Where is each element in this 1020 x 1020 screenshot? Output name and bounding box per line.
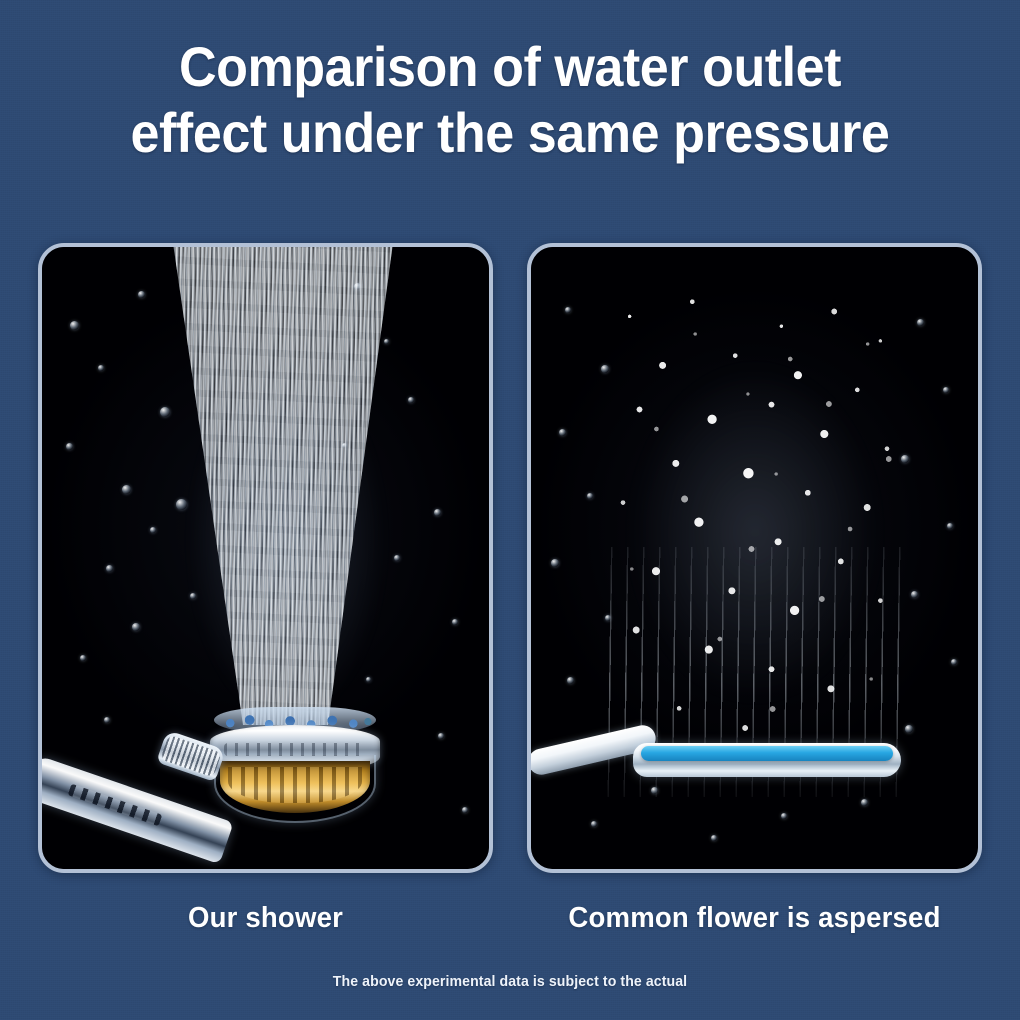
caption-common-flower: Common flower is aspersed (538, 902, 970, 935)
panel-common-flower (527, 243, 982, 873)
title-line-1: Comparison of water outlet (36, 34, 985, 100)
water-droplet (70, 321, 79, 330)
water-droplet (951, 659, 957, 665)
water-droplet (711, 835, 717, 841)
water-droplet (80, 655, 86, 661)
water-droplet (567, 677, 574, 684)
panel-our-shower-photo (42, 247, 489, 869)
title-line-2: effect under the same pressure (36, 100, 985, 166)
panel-our-shower (38, 243, 493, 873)
comparison-panels (38, 243, 982, 873)
caption-spacer (493, 902, 527, 935)
poster-root: Comparison of water outlet effect under … (0, 0, 1020, 1020)
panel-captions: Our shower Common flower is aspersed (38, 902, 982, 935)
water-droplet (438, 733, 444, 739)
water-droplet (781, 813, 787, 819)
water-droplet (861, 799, 868, 806)
water-droplet (122, 485, 131, 494)
footnote-disclaimer: The above experimental data is subject t… (31, 973, 990, 990)
blue-accent-band (641, 746, 893, 761)
glass-rim (214, 755, 376, 823)
water-droplet (947, 523, 953, 529)
water-droplet (559, 429, 566, 436)
panel-common-flower-photo (531, 247, 978, 869)
water-droplet (462, 807, 468, 813)
page-title: Comparison of water outlet effect under … (0, 34, 1020, 166)
flat-shower-head (571, 743, 901, 783)
water-droplet (66, 443, 73, 450)
water-droplet (551, 559, 559, 567)
caption-our-shower: Our shower (49, 902, 481, 935)
water-droplet (565, 307, 571, 313)
water-droplet (104, 717, 110, 723)
water-droplet (106, 565, 113, 572)
water-droplet (591, 821, 597, 827)
water-droplet (98, 365, 104, 371)
water-droplet (452, 619, 458, 625)
water-droplet (943, 387, 949, 393)
shower-head-assembly (210, 703, 380, 833)
